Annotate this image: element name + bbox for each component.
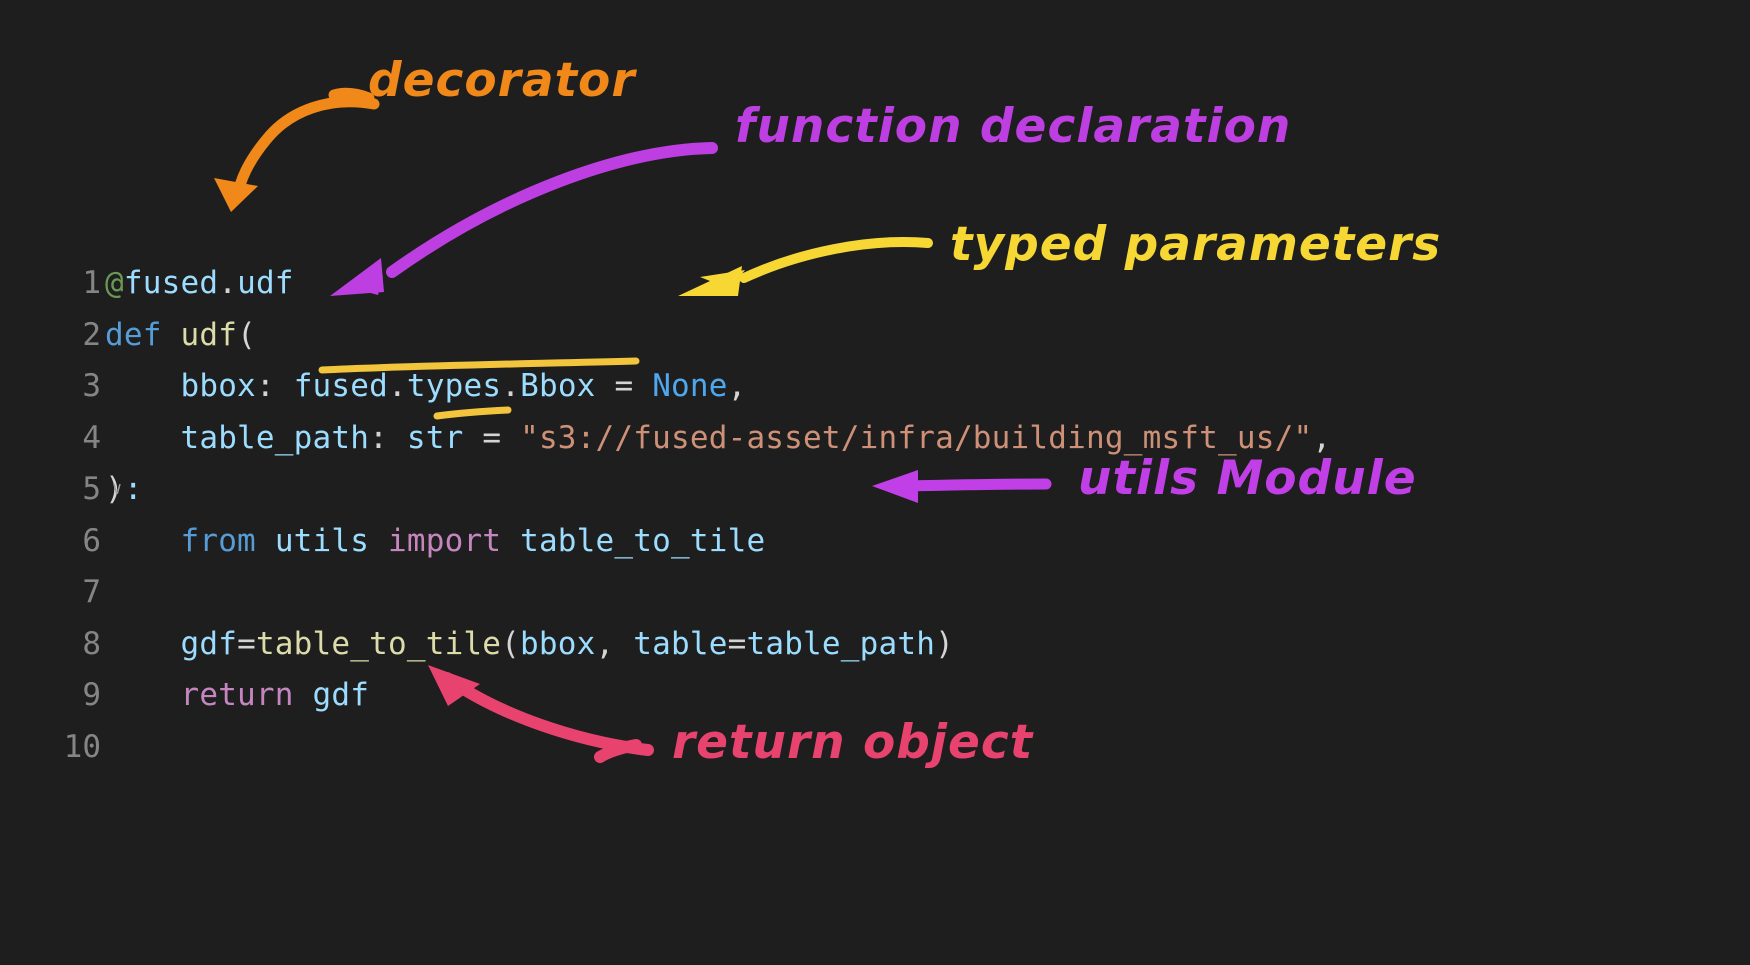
code-token: ( [237, 317, 256, 353]
code-token [105, 626, 180, 662]
code-token: Bbox [520, 368, 595, 404]
code-text[interactable]: ): [105, 464, 1750, 516]
code-token: = [237, 626, 256, 662]
code-token: , [596, 626, 615, 662]
code-token: utils [275, 523, 369, 559]
code-text[interactable]: @fused.udf [105, 258, 1750, 310]
line-number: 10 [0, 722, 105, 774]
annotation-label-utils-module: utils Module [1078, 451, 1417, 506]
code-token: . [501, 368, 520, 404]
code-token: = [614, 368, 633, 404]
code-token: udf [180, 317, 237, 353]
line-number: 9 [0, 670, 105, 722]
line-number: 7 [0, 567, 105, 619]
code-text[interactable]: from utils import table_to_tile [105, 516, 1750, 568]
code-token [501, 523, 520, 559]
code-token: table_to_tile [256, 626, 501, 662]
annotated-code-figure: 1@fused.udf2def udf(3 bbox: fused.types.… [0, 0, 1750, 965]
code-token: bbox [520, 626, 595, 662]
decorator-arrow [214, 93, 374, 212]
code-token: import [388, 523, 501, 559]
line-number: 8 [0, 619, 105, 671]
code-token: gdf [313, 677, 370, 713]
code-token: fused [294, 368, 388, 404]
code-token [294, 677, 313, 713]
code-token: ( [501, 626, 520, 662]
code-text[interactable]: def udf( [105, 310, 1750, 362]
code-token: @ [105, 265, 124, 301]
code-token [388, 420, 407, 456]
code-token: table_path [746, 626, 935, 662]
code-line[interactable]: 3 bbox: fused.types.Bbox = None, [0, 361, 1750, 413]
code-token [633, 368, 652, 404]
code-line[interactable]: 5∨): [0, 464, 1750, 516]
code-token: ) [935, 626, 954, 662]
code-line[interactable]: 1@fused.udf [0, 258, 1750, 310]
code-token [614, 626, 633, 662]
code-token: , [728, 368, 747, 404]
code-editor[interactable]: 1@fused.udf2def udf(3 bbox: fused.types.… [0, 258, 1750, 773]
code-line[interactable]: 6 from utils import table_to_tile [0, 516, 1750, 568]
line-number: 1 [0, 258, 105, 310]
code-token: bbox [180, 368, 255, 404]
code-token [105, 368, 180, 404]
code-token: table_path [180, 420, 369, 456]
code-line[interactable]: 4 table_path: str = "s3://fused-asset/in… [0, 413, 1750, 465]
line-number: 6 [0, 516, 105, 568]
code-token: def [105, 317, 162, 353]
code-token: = [482, 420, 501, 456]
code-text[interactable]: table_path: str = "s3://fused-asset/infr… [105, 413, 1750, 465]
code-token: fused [124, 265, 218, 301]
code-token: : [256, 368, 275, 404]
code-token: None [652, 368, 727, 404]
code-line[interactable]: 9 return gdf [0, 670, 1750, 722]
line-number: 4 [0, 413, 105, 465]
code-token: from [180, 523, 255, 559]
code-text[interactable]: return gdf [105, 670, 1750, 722]
code-token [162, 317, 181, 353]
annotation-label-return-object: return object [672, 715, 1033, 770]
code-text[interactable]: bbox: fused.types.Bbox = None, [105, 361, 1750, 413]
code-token: str [407, 420, 464, 456]
annotation-label-typed-parameters: typed parameters [950, 217, 1441, 272]
code-token: . [218, 265, 237, 301]
code-token: return [180, 677, 293, 713]
code-token: . [388, 368, 407, 404]
code-token [463, 420, 482, 456]
code-token [105, 677, 180, 713]
code-line[interactable]: 2def udf( [0, 310, 1750, 362]
line-number: 3 [0, 361, 105, 413]
code-token: udf [237, 265, 294, 301]
code-token [256, 523, 275, 559]
code-token [596, 368, 615, 404]
code-token: table [633, 626, 727, 662]
code-token [105, 420, 180, 456]
code-token: gdf [180, 626, 237, 662]
code-token [501, 420, 520, 456]
line-number: 5∨ [0, 464, 105, 516]
code-line[interactable]: 7 [0, 567, 1750, 619]
chevron-down-icon[interactable]: ∨ [107, 464, 127, 516]
code-line[interactable]: 8 gdf=table_to_tile(bbox, table=table_pa… [0, 619, 1750, 671]
code-token: table_to_tile [520, 523, 765, 559]
line-number: 2 [0, 310, 105, 362]
code-token [369, 523, 388, 559]
annotation-label-function-declaration: function declaration [735, 99, 1291, 154]
annotation-label-decorator: decorator [368, 53, 636, 108]
code-token [105, 523, 180, 559]
code-token: types [407, 368, 501, 404]
code-token [275, 368, 294, 404]
code-token: : [369, 420, 388, 456]
code-text[interactable]: gdf=table_to_tile(bbox, table=table_path… [105, 619, 1750, 671]
code-token: = [728, 626, 747, 662]
